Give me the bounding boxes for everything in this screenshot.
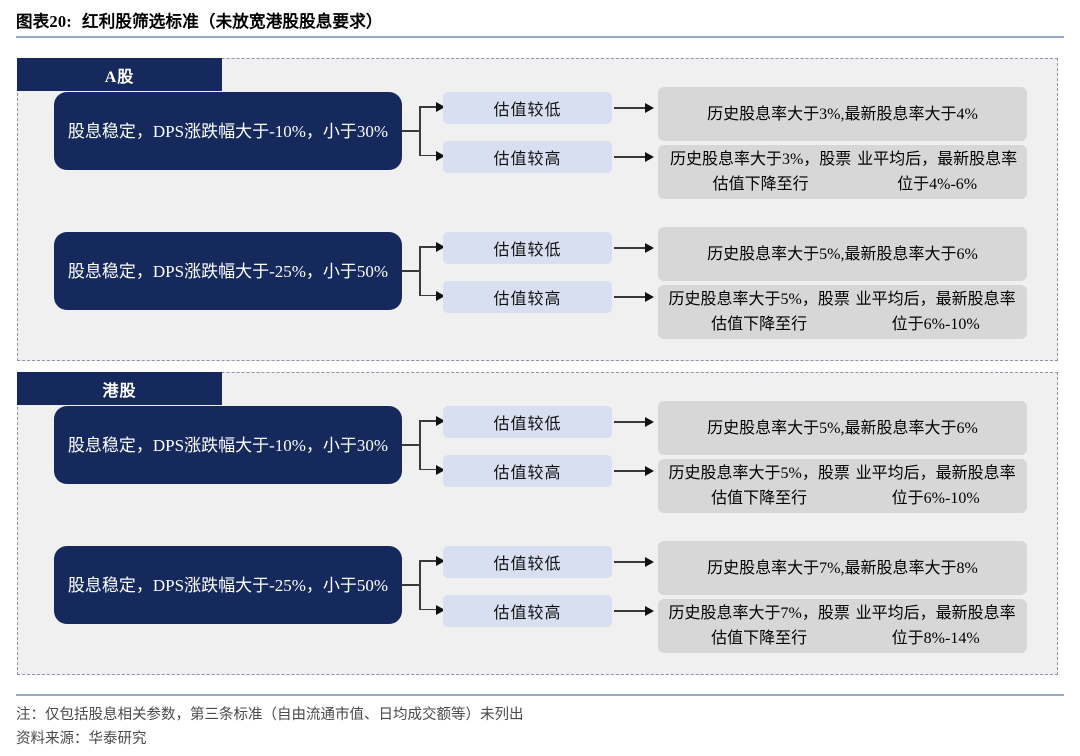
criterion-line-2: 小于30%	[323, 433, 388, 458]
result-line-2: 最新股息率大于8%	[845, 556, 978, 581]
footer-source: 资料来源：华泰研究	[16, 727, 1064, 751]
result-line-1: 历史股息率大于7%，股票估值下降至行	[666, 601, 852, 651]
result-box: 历史股息率大于7%，股票估值下降至行 业平均后，最新股息率位于8%-14%	[658, 599, 1027, 653]
section-label-a-shares: A股	[17, 58, 222, 91]
title-divider	[16, 36, 1064, 38]
arrow-icon	[614, 292, 656, 302]
result-line-2: 最新股息率大于6%	[845, 242, 978, 267]
criterion-box: 股息稳定，DPS涨跌幅大于-25%， 小于50%	[54, 232, 402, 310]
result-box: 历史股息率大于5%，股票估值下降至行 业平均后，最新股息率位于6%-10%	[658, 285, 1027, 339]
figure-number: 图表20:	[16, 12, 72, 31]
arrow-icon	[614, 417, 656, 427]
result-line-1: 历史股息率大于3%,	[707, 102, 844, 127]
result-line-2: 业平均后，最新股息率位于6%-10%	[852, 461, 1019, 511]
footer-note: 注：仅包括股息相关参数，第三条标准（自由流通市值、日均成交额等）未列出	[16, 703, 1064, 727]
result-box: 历史股息率大于5%，股票估值下降至行 业平均后，最新股息率位于6%-10%	[658, 459, 1027, 513]
criterion-line-1: 股息稳定，DPS涨跌幅大于-10%，	[68, 433, 323, 458]
section-label-hk-shares: 港股	[17, 372, 222, 405]
valuation-box: 估值较低	[443, 546, 612, 578]
result-line-2: 最新股息率大于6%	[845, 416, 978, 441]
arrow-icon	[614, 557, 656, 567]
section-panel-hk-shares: 港股 股息稳定，DPS涨跌幅大于-10%， 小于30% 估值较低 估值较高 历史…	[17, 372, 1058, 675]
criterion-line-2: 小于50%	[323, 259, 388, 284]
valuation-box: 估值较高	[443, 281, 612, 313]
valuation-box: 估值较高	[443, 141, 612, 173]
criterion-box: 股息稳定，DPS涨跌幅大于-10%， 小于30%	[54, 92, 402, 170]
result-line-1: 历史股息率大于5%，股票估值下降至行	[666, 461, 852, 511]
arrow-icon	[614, 466, 656, 476]
valuation-box: 估值较高	[443, 595, 612, 627]
result-line-2: 业平均后，最新股息率位于8%-14%	[852, 601, 1019, 651]
result-box: 历史股息率大于5%, 最新股息率大于6%	[658, 401, 1027, 455]
footer: 注：仅包括股息相关参数，第三条标准（自由流通市值、日均成交额等）未列出 资料来源…	[16, 703, 1064, 751]
result-line-2: 业平均后，最新股息率位于6%-10%	[852, 287, 1019, 337]
arrow-icon	[614, 243, 656, 253]
result-line-1: 历史股息率大于5%,	[707, 242, 844, 267]
arrow-icon	[614, 606, 656, 616]
valuation-box: 估值较低	[443, 92, 612, 124]
result-line-2: 业平均后，最新股息率位于4%-6%	[855, 147, 1019, 197]
result-line-1: 历史股息率大于7%,	[707, 556, 844, 581]
criterion-line-2: 小于30%	[323, 119, 388, 144]
criterion-group: 股息稳定，DPS涨跌幅大于-25%， 小于50% 估值较低 估值较高 历史股息率…	[18, 533, 1059, 663]
criterion-group: 股息稳定，DPS涨跌幅大于-25%， 小于50% 估值较低 估值较高 历史股息率…	[18, 219, 1059, 349]
valuation-box: 估值较高	[443, 455, 612, 487]
arrow-icon	[614, 103, 656, 113]
result-box: 历史股息率大于3%, 最新股息率大于4%	[658, 87, 1027, 141]
valuation-box: 估值较低	[443, 406, 612, 438]
arrow-icon	[614, 152, 656, 162]
valuation-box: 估值较低	[443, 232, 612, 264]
result-line-1: 历史股息率大于3%，股票估值下降至行	[666, 147, 855, 197]
criterion-line-1: 股息稳定，DPS涨跌幅大于-25%，	[68, 573, 323, 598]
criterion-group: 股息稳定，DPS涨跌幅大于-10%， 小于30% 估值较低 估值较高 历史股息率…	[18, 79, 1059, 209]
result-box: 历史股息率大于3%，股票估值下降至行 业平均后，最新股息率位于4%-6%	[658, 145, 1027, 199]
criterion-box: 股息稳定，DPS涨跌幅大于-25%， 小于50%	[54, 546, 402, 624]
criterion-group: 股息稳定，DPS涨跌幅大于-10%， 小于30% 估值较低 估值较高 历史股息率…	[18, 393, 1059, 523]
page-title: 图表20:红利股筛选标准（未放宽港股股息要求）	[16, 8, 1064, 32]
result-line-2: 最新股息率大于4%	[845, 102, 978, 127]
criterion-line-1: 股息稳定，DPS涨跌幅大于-10%，	[68, 119, 323, 144]
criterion-line-1: 股息稳定，DPS涨跌幅大于-25%，	[68, 259, 323, 284]
criterion-box: 股息稳定，DPS涨跌幅大于-10%， 小于30%	[54, 406, 402, 484]
result-line-1: 历史股息率大于5%，股票估值下降至行	[666, 287, 852, 337]
result-box: 历史股息率大于5%, 最新股息率大于6%	[658, 227, 1027, 281]
footer-divider	[16, 694, 1064, 696]
result-line-1: 历史股息率大于5%,	[707, 416, 844, 441]
section-panel-a-shares: A股 股息稳定，DPS涨跌幅大于-10%， 小于30% 估值较低 估值较高 历史…	[17, 58, 1058, 361]
figure-title-text: 红利股筛选标准（未放宽港股股息要求）	[82, 12, 383, 31]
result-box: 历史股息率大于7%, 最新股息率大于8%	[658, 541, 1027, 595]
criterion-line-2: 小于50%	[323, 573, 388, 598]
